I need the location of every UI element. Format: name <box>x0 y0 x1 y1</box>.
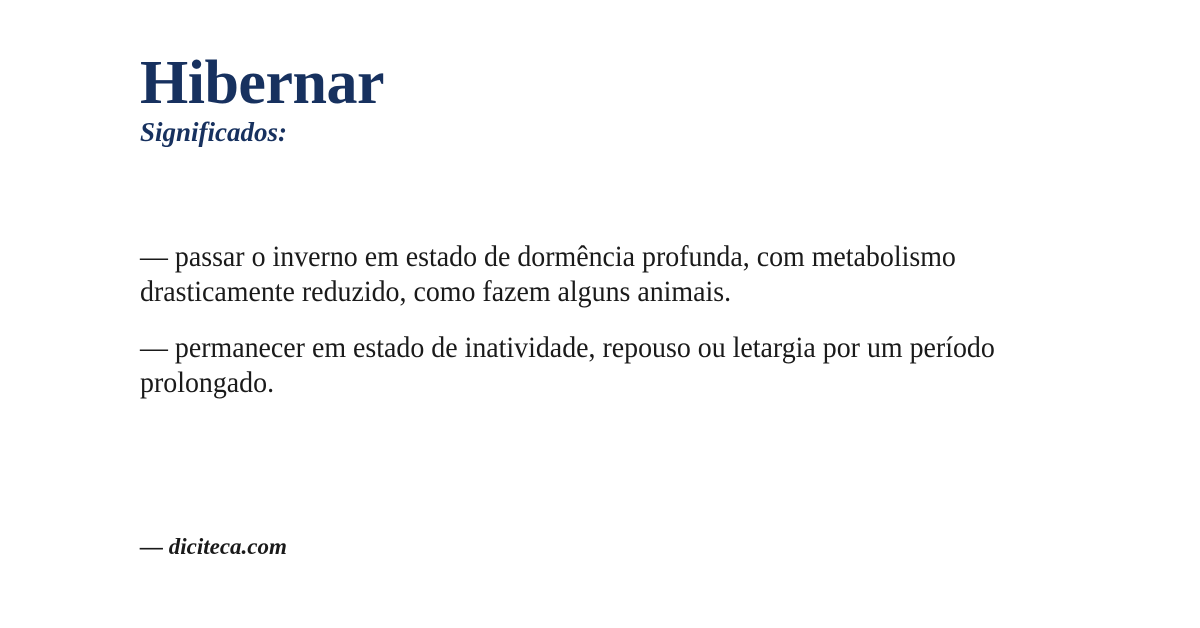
definition-list: — passar o inverno em estado de dormênci… <box>140 239 1040 400</box>
definition-item: — passar o inverno em estado de dormênci… <box>140 239 1040 309</box>
definition-card: Hibernar Significados: — passar o invern… <box>0 0 1200 628</box>
page-title: Hibernar <box>140 52 1040 114</box>
source-attribution: — diciteca.com <box>140 533 287 561</box>
definition-item: — permanecer em estado de inatividade, r… <box>140 330 1040 400</box>
subtitle-significados: Significados: <box>140 118 1040 148</box>
card-header: Hibernar Significados: <box>140 52 1040 148</box>
card-footer: — diciteca.com <box>140 533 287 561</box>
